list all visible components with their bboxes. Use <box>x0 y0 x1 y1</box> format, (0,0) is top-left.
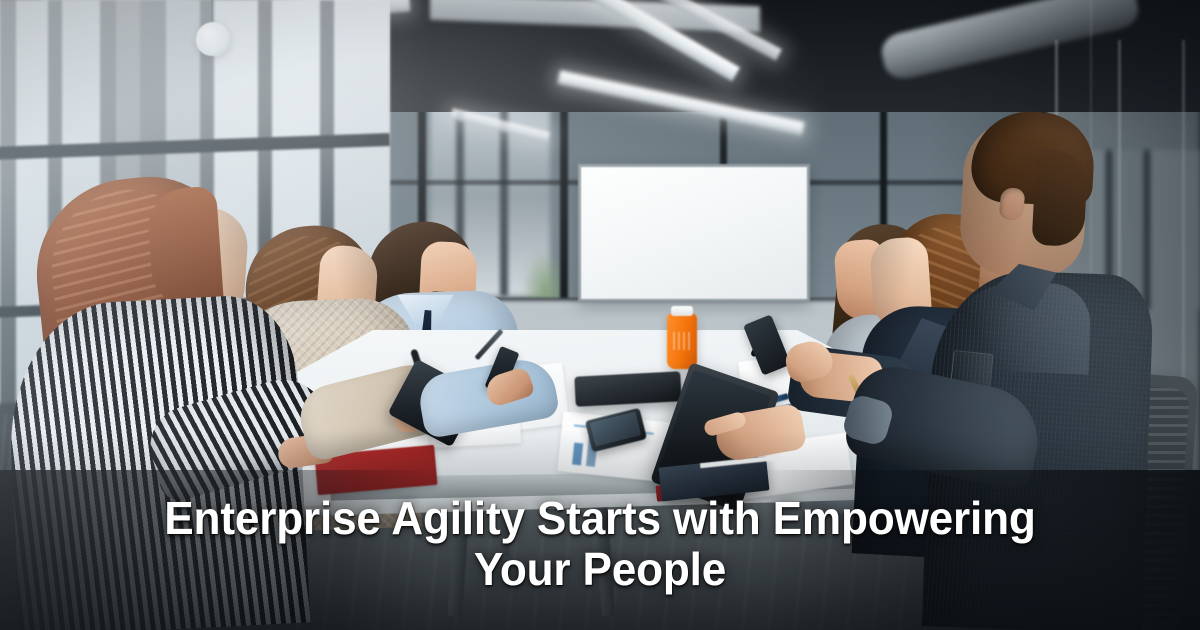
person-right-3-hair-side <box>1032 149 1089 248</box>
orange-bottle-label <box>673 332 691 350</box>
title-line-1: Enterprise Agility Starts with Empowerin… <box>164 492 1035 544</box>
partition-frame-v2 <box>560 86 568 308</box>
page-title: Enterprise Agility Starts with Empowerin… <box>107 493 1094 596</box>
whiteboard <box>578 164 810 302</box>
orange-bottle-cap <box>671 306 693 316</box>
banner-image: Enterprise Agility Starts with Empowerin… <box>0 0 1200 630</box>
closed-laptop <box>574 371 681 407</box>
banner-title-block: Enterprise Agility Starts with Empowerin… <box>0 493 1200 596</box>
title-line-2: Your People <box>474 543 726 595</box>
pendant-lamp-icon <box>196 22 230 56</box>
